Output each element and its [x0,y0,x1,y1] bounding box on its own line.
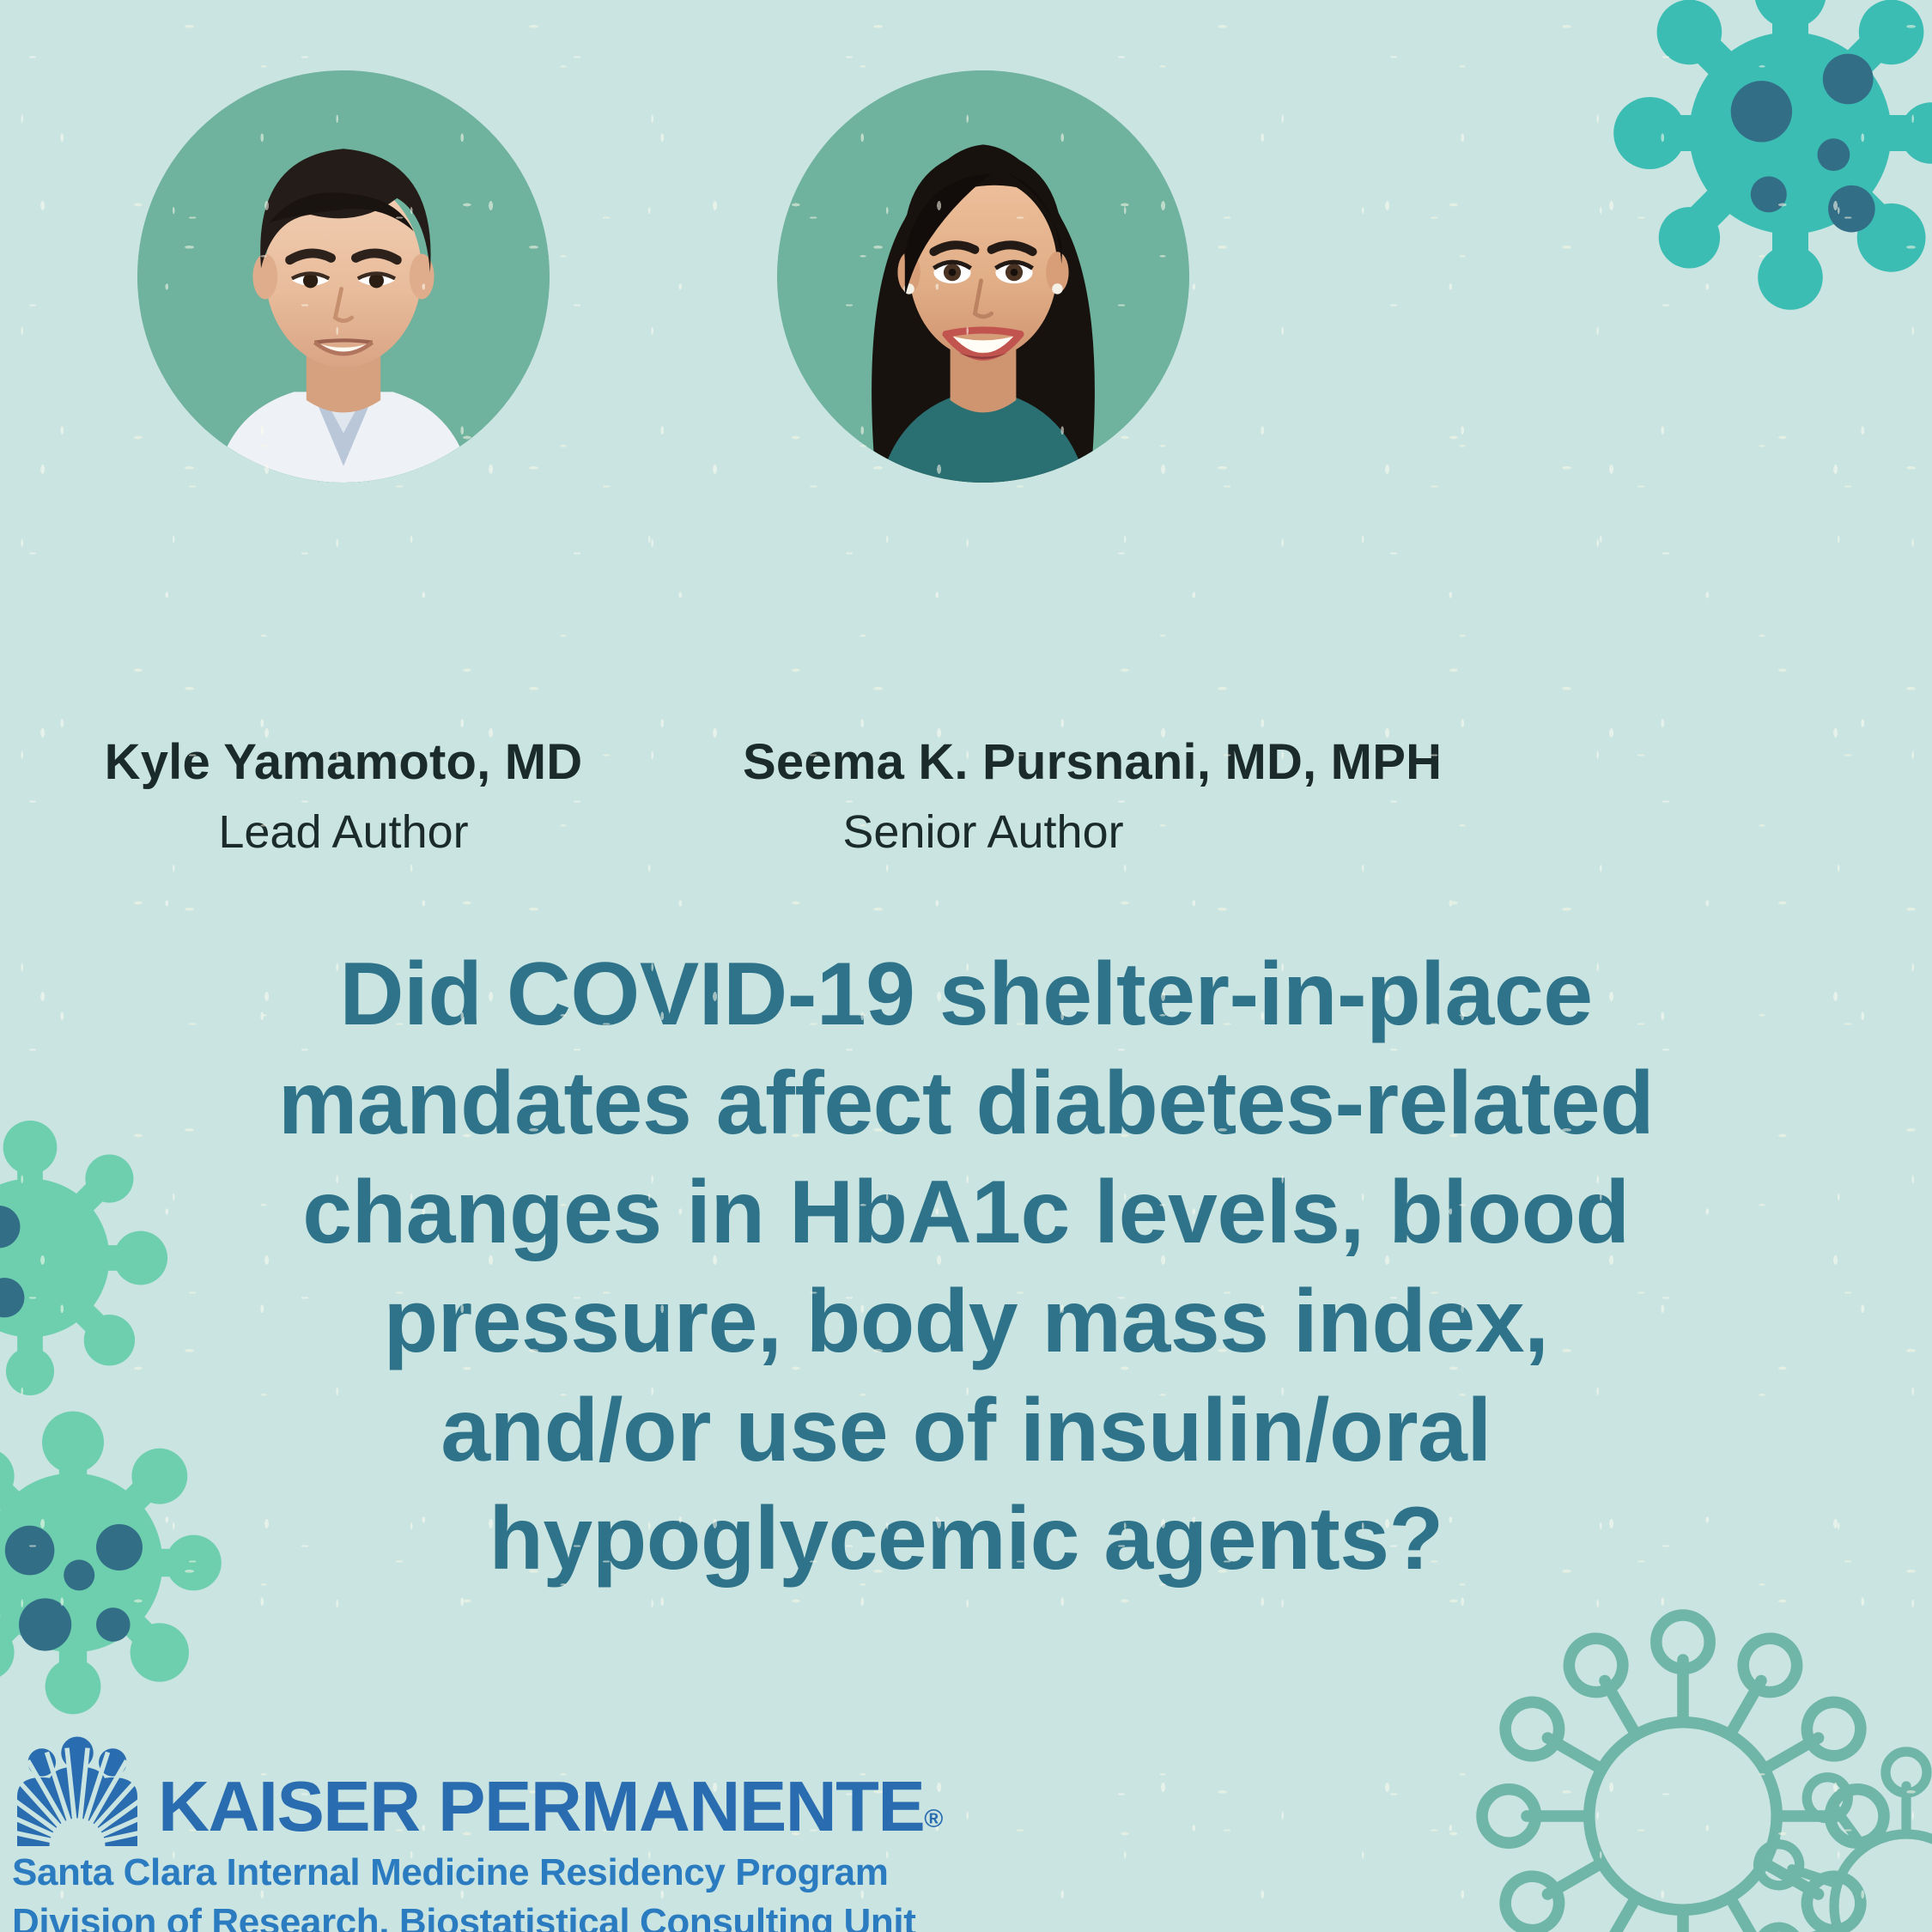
headline-line: changes in HbA1c levels, blood [129,1158,1803,1267]
kaiser-permanente-thrive-icon [12,1735,143,1846]
headshot-seema-pursnani [777,70,1189,483]
kaiser-permanente-logo: KAISER PERMANENTE® Santa Clara Internal … [12,1735,943,1932]
logo-subtitle-line-2: Division of Research, Biostatistical Con… [12,1899,943,1932]
author-role: Lead Author [103,808,584,857]
author-name: Kyle Yamamoto, MD [103,737,584,789]
registered-trademark-icon: ® [924,1805,943,1833]
wordmark-text: KAISER PERMANENTE [158,1766,924,1846]
caption-author-1: Kyle Yamamoto, MD Lead Author [103,737,584,857]
caption-author-2: Seema K. Pursnani, MD, MPH Senior Author [743,737,1224,857]
research-question-headline: Did COVID-19 shelter-in-place mandates a… [0,940,1932,1594]
headline-line: and/or use of insulin/oral [129,1376,1803,1485]
headline-line: pressure, body mass index, [129,1267,1803,1376]
kaiser-permanente-wordmark: KAISER PERMANENTE® [158,1773,943,1841]
headline-line: mandates affect diabetes-related [129,1049,1803,1158]
portrait-seema-pursnani [777,70,1189,483]
author-name: Seema K. Pursnani, MD, MPH [743,737,1224,789]
logo-subtitle-line-1: Santa Clara Internal Medicine Residency … [12,1850,943,1896]
photo-disc-right [777,70,1189,483]
headline-line: Did COVID-19 shelter-in-place [129,940,1803,1049]
poster-canvas: Kyle Yamamoto, MD Lead Author Seema K. P… [0,0,1932,1932]
virus-outline-small [1735,1735,1932,1932]
portrait-kyle-yamamoto [137,70,550,483]
headshot-kyle-yamamoto [137,70,550,483]
author-role: Senior Author [743,808,1224,857]
headline-line: hypoglycemic agents? [129,1485,1803,1594]
author-photos [0,0,1932,859]
photo-disc-left [137,70,550,483]
